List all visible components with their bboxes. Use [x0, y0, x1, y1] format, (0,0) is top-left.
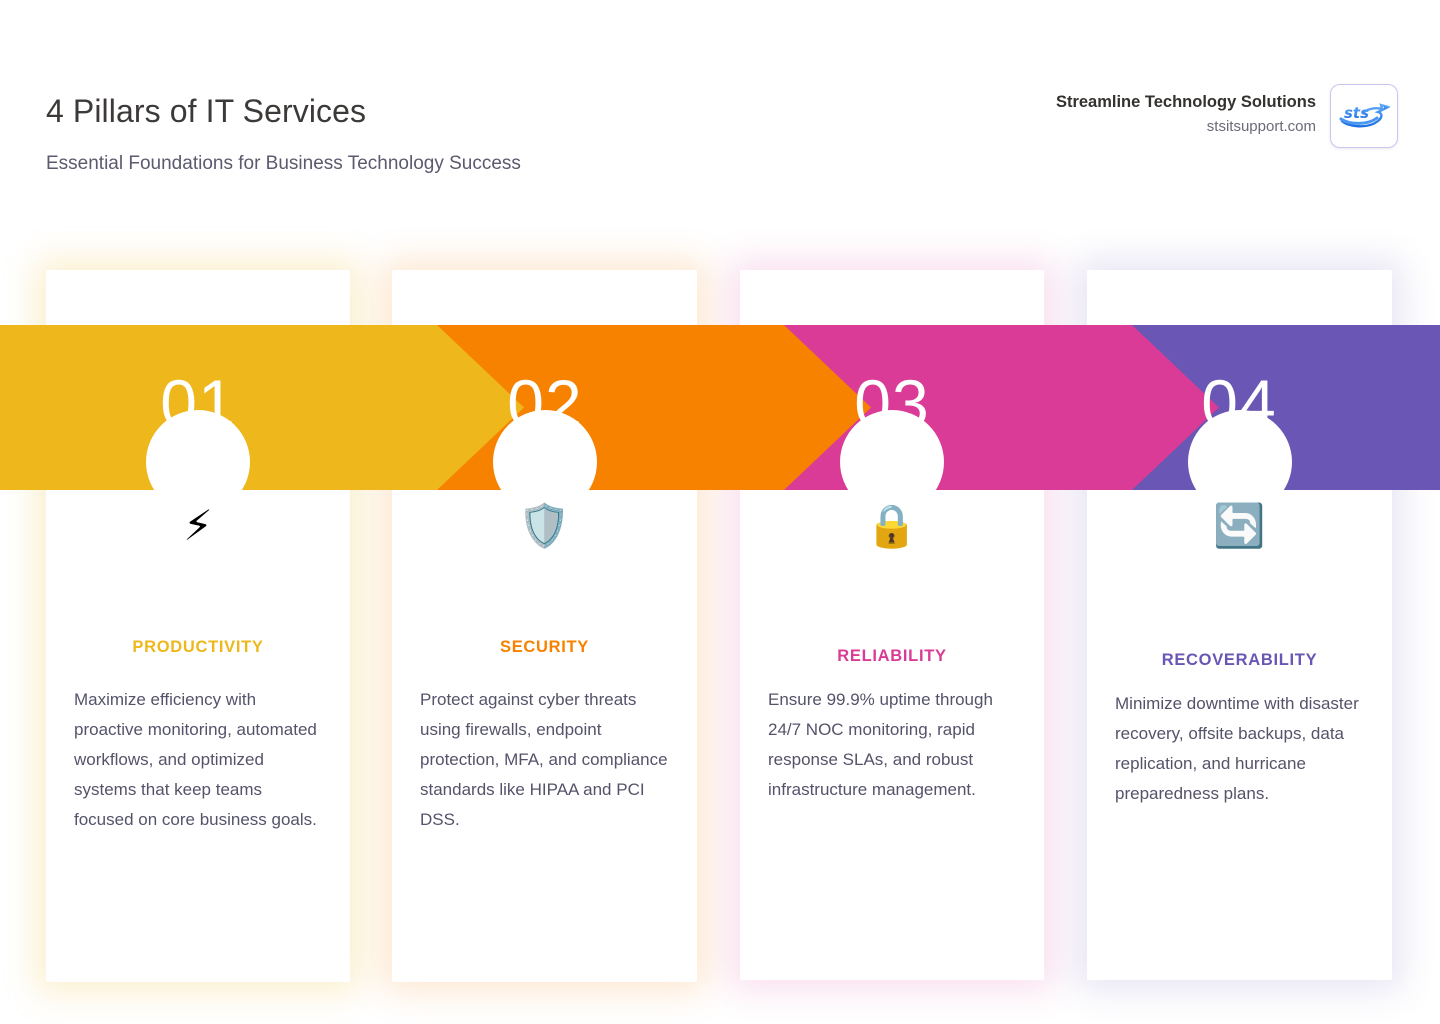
pillar-title-1: PRODUCTIVITY: [46, 638, 350, 657]
pillar-title-2: SECURITY: [392, 638, 697, 657]
brand-text: Streamline Technology Solutions stsitsup…: [1056, 84, 1316, 139]
brand-name: Streamline Technology Solutions: [1056, 91, 1316, 113]
refresh-sync-icon: 🔄: [1213, 505, 1265, 547]
pillar-description-4: Minimize downtime with disaster recovery…: [1115, 689, 1364, 809]
lightning-bolt-icon: ⚡: [183, 505, 213, 547]
pillar-title-4: RECOVERABILITY: [1087, 651, 1392, 670]
pillar-description-3: Ensure 99.9% uptime through 24/7 NOC mon…: [768, 685, 1016, 805]
icon-notch: [493, 410, 597, 514]
pillar-description-2: Protect against cyber threats using fire…: [420, 685, 669, 835]
shield-icon: 🛡️: [518, 505, 570, 547]
brand-website: stsitsupport.com: [1056, 116, 1316, 139]
page-subtitle: Essential Foundations for Business Techn…: [46, 153, 521, 175]
icon-notch: [840, 410, 944, 514]
svg-text:sts: sts: [1344, 104, 1369, 122]
icon-notch: [1188, 410, 1292, 514]
pillar-title-3: RELIABILITY: [740, 647, 1044, 666]
infographic-canvas: 4 Pillars of IT Services Essential Found…: [0, 0, 1440, 1024]
sts-logo-icon: sts: [1338, 99, 1390, 133]
page-title: 4 Pillars of IT Services: [46, 93, 366, 130]
pillar-description-1: Maximize efficiency with proactive monit…: [74, 685, 322, 835]
brand-block: Streamline Technology Solutions stsitsup…: [1056, 84, 1398, 148]
sts-logo: sts: [1330, 84, 1398, 148]
icon-notch: [146, 410, 250, 514]
lock-icon: 🔒: [866, 505, 918, 547]
